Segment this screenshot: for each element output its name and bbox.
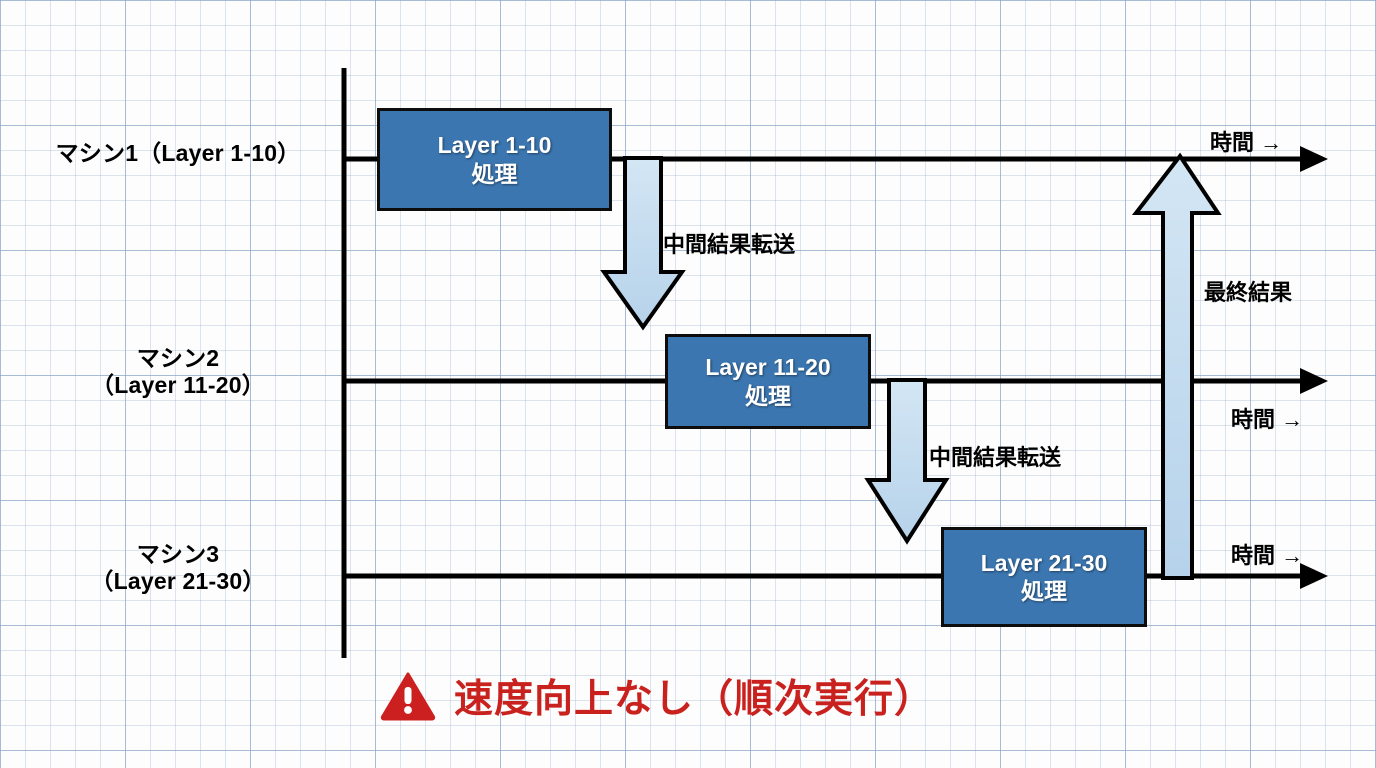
process-box-subtitle: 処理 <box>745 382 791 410</box>
process-box-title: Layer 11-20 <box>705 353 830 381</box>
machine3-row-label: マシン3 （Layer 21-30） <box>20 541 336 595</box>
warning-triangle-icon <box>380 671 436 721</box>
time-axis-label-machine3: 時間 → <box>1231 538 1303 570</box>
process-box-title: Layer 1-10 <box>438 131 552 159</box>
warning-message: 速度向上なし（順次実行） <box>454 668 934 724</box>
transfer-label-1: 中間結果転送 <box>663 227 795 259</box>
diagram-canvas: マシン1（Layer 1-10） マシン2 （Layer 11-20） マシン3… <box>0 0 1376 768</box>
process-box-layer-11-20: Layer 11-20 処理 <box>665 334 871 429</box>
process-box-subtitle: 処理 <box>1021 577 1067 605</box>
transfer-label-2: 中間結果転送 <box>929 440 1061 472</box>
process-box-title: Layer 21-30 <box>981 549 1108 577</box>
process-box-layer-1-10: Layer 1-10 処理 <box>377 108 612 211</box>
process-box-layer-21-30: Layer 21-30 処理 <box>941 527 1147 627</box>
time-axis-label-machine1: 時間 → <box>1210 125 1282 157</box>
warning-banner: 速度向上なし（順次実行） <box>380 668 934 724</box>
final-result-label: 最終結果 <box>1204 275 1292 307</box>
machine1-row-label: マシン1（Layer 1-10） <box>20 140 336 167</box>
time-axis-label-machine2: 時間 → <box>1231 402 1303 434</box>
final-result-arrow <box>1136 156 1218 578</box>
process-box-subtitle: 処理 <box>472 160 518 188</box>
machine2-row-label: マシン2 （Layer 11-20） <box>20 345 336 399</box>
